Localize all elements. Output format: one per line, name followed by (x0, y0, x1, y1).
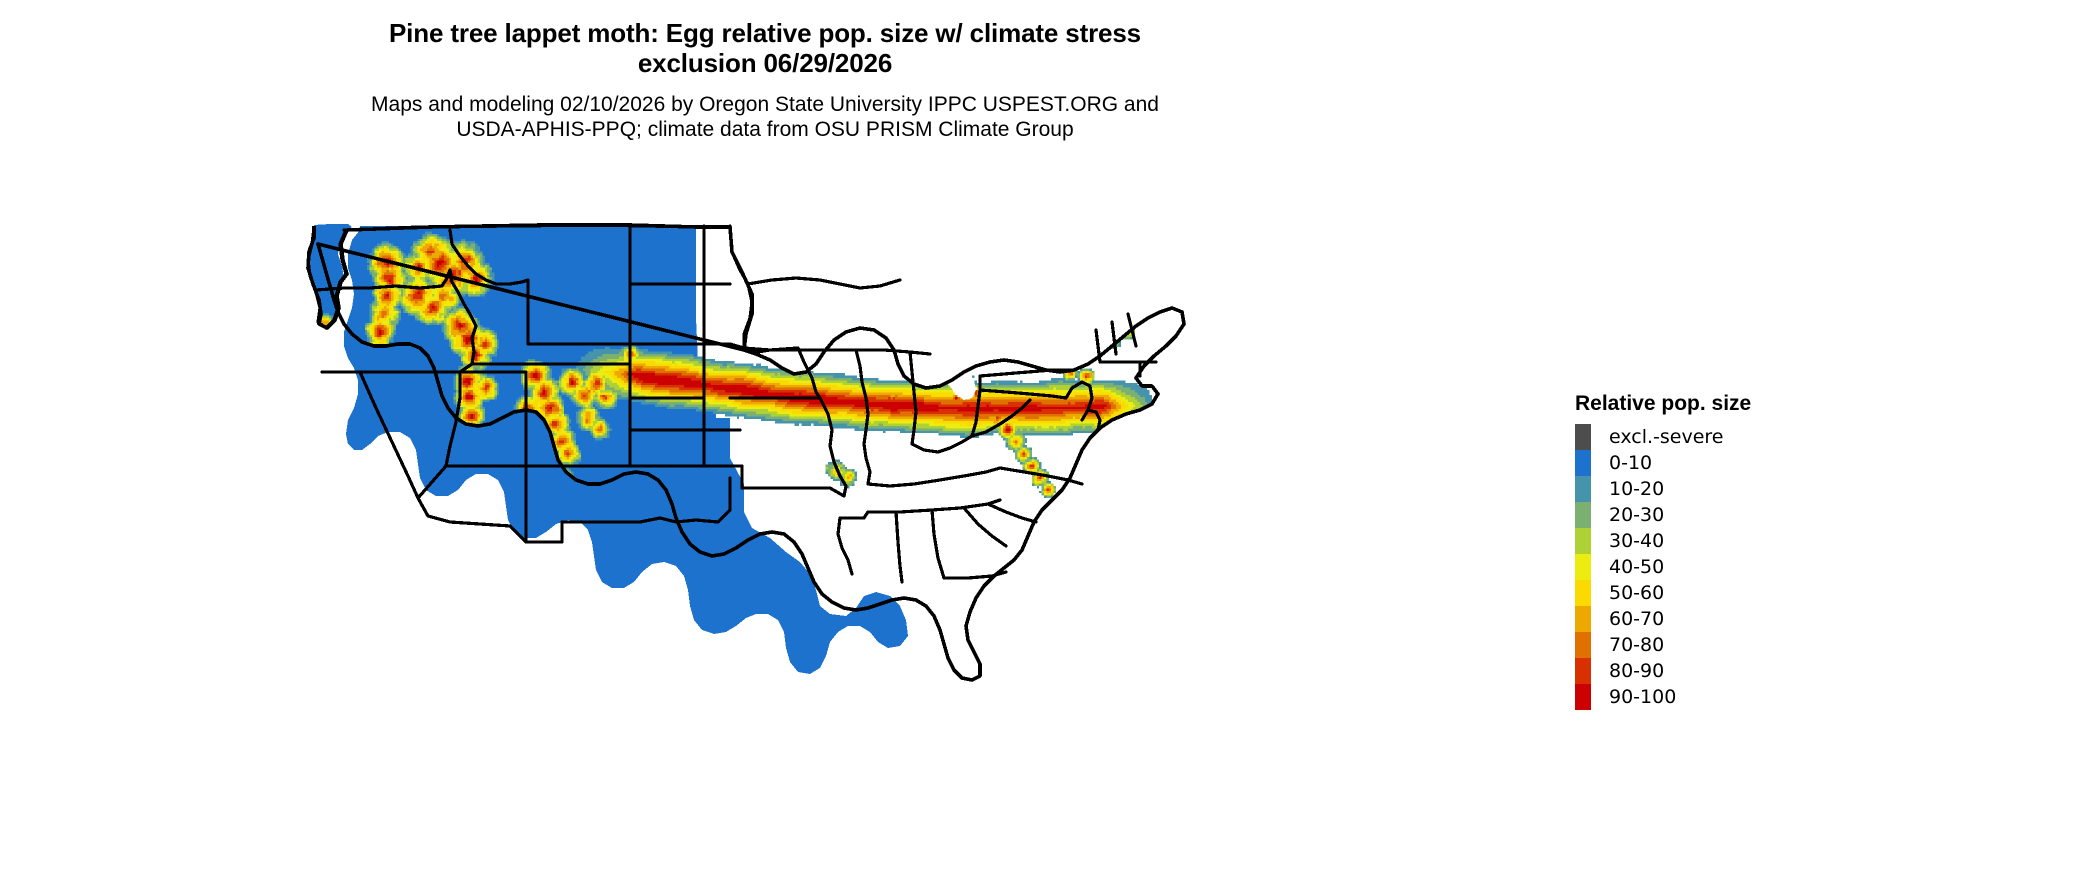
legend-label: excl.-severe (1609, 424, 1724, 450)
legend-label: 50-60 (1609, 580, 1664, 606)
legend-row: 70-80 (1575, 632, 1875, 658)
legend: Relative pop. size excl.-severe0-1010-20… (1575, 392, 1875, 710)
border-la-tx (838, 518, 852, 574)
legend-row: excl.-severe (1575, 424, 1875, 450)
legend-swatch (1575, 658, 1591, 684)
page-title: Pine tree lappet moth: Egg relative pop.… (0, 18, 1530, 78)
legend-swatch (1575, 580, 1591, 606)
legend-label: 10-20 (1609, 476, 1664, 502)
lake-ontario (1058, 342, 1098, 358)
legend-label: 0-10 (1609, 450, 1652, 476)
legend-items: excl.-severe0-1010-2020-3030-4040-5050-6… (1575, 424, 1875, 710)
legend-label: 90-100 (1609, 684, 1676, 710)
legend-swatch (1575, 424, 1591, 450)
border-tn-south (868, 500, 1000, 512)
legend-label: 80-90 (1609, 658, 1664, 684)
legend-title: Relative pop. size (1575, 392, 1875, 416)
border-ga-sc (964, 508, 1006, 546)
legend-swatch (1575, 632, 1591, 658)
legend-label: 20-30 (1609, 502, 1664, 528)
legend-swatch (1575, 476, 1591, 502)
border-ms-al (896, 512, 902, 582)
legend-row: 20-30 (1575, 502, 1875, 528)
lake-superior (900, 272, 976, 298)
map-figure: Pine tree lappet moth: Egg relative pop.… (0, 0, 2100, 892)
legend-swatch (1575, 684, 1591, 710)
legend-label: 70-80 (1609, 632, 1664, 658)
legend-swatch (1575, 606, 1591, 632)
border-vt-nh (1112, 322, 1116, 354)
legend-row: 60-70 (1575, 606, 1875, 632)
legend-label: 40-50 (1609, 554, 1664, 580)
legend-label: 60-70 (1609, 606, 1664, 632)
us-map-svg (300, 222, 1220, 682)
legend-row: 80-90 (1575, 658, 1875, 684)
legend-row: 90-100 (1575, 684, 1875, 710)
legend-label: 30-40 (1609, 528, 1664, 554)
border-oh-ky (912, 436, 972, 452)
border-ky-south (868, 468, 1000, 486)
lake-huron (984, 294, 1016, 354)
legend-swatch (1575, 528, 1591, 554)
map-attribution-subtitle: Maps and modeling 02/10/2026 by Oregon S… (0, 92, 1530, 142)
legend-row: 30-40 (1575, 528, 1875, 554)
subtitle-block: Maps and modeling 02/10/2026 by Oregon S… (0, 92, 1530, 142)
border-sc-nc (988, 504, 1036, 522)
border-ar-la (840, 512, 868, 518)
legend-row: 40-50 (1575, 554, 1875, 580)
legend-swatch (1575, 450, 1591, 476)
legend-row: 50-60 (1575, 580, 1875, 606)
legend-row: 0-10 (1575, 450, 1875, 476)
border-al-ga (932, 510, 944, 578)
legend-row: 10-20 (1575, 476, 1875, 502)
title-block: Pine tree lappet moth: Egg relative pop.… (0, 18, 1530, 78)
legend-swatch (1575, 554, 1591, 580)
legend-swatch (1575, 502, 1591, 528)
choropleth-map (300, 222, 1220, 682)
border-wi-north (748, 278, 900, 288)
